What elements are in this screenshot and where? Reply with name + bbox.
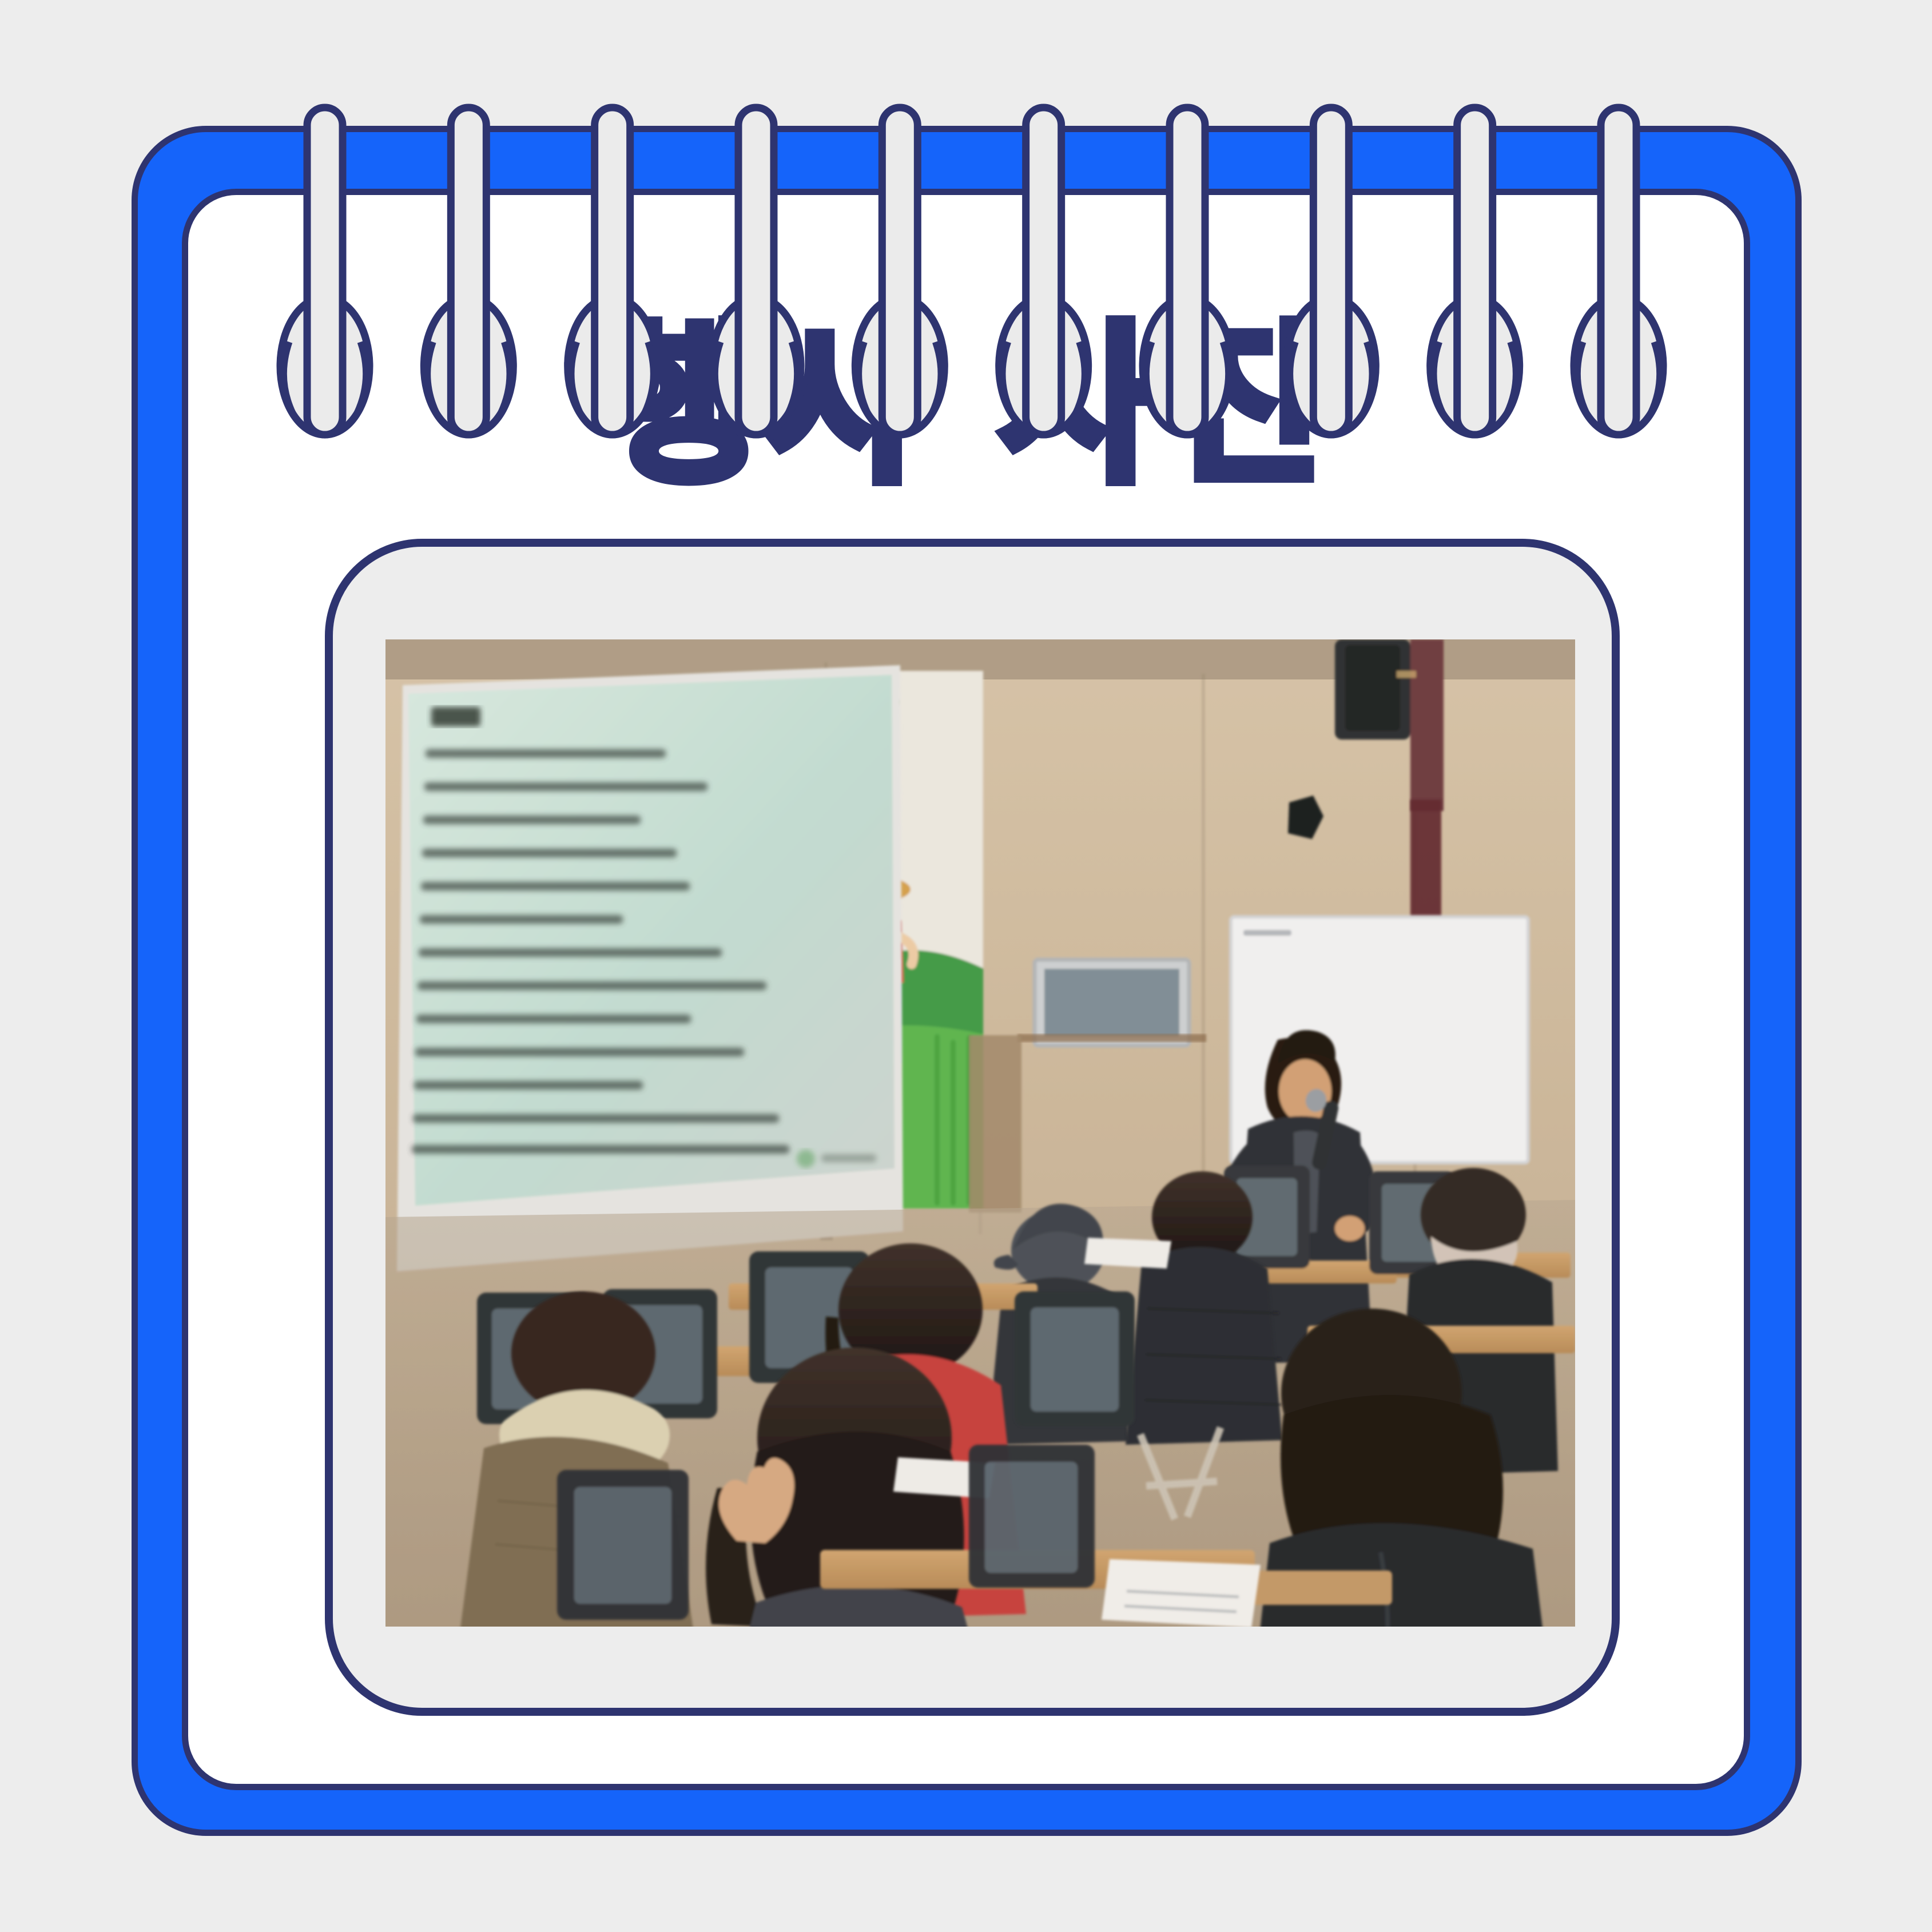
page-title: 행사 사진 [0, 320, 1932, 492]
event-photo-illustration [385, 639, 1575, 1627]
event-photo [385, 639, 1575, 1627]
photo-frame [325, 539, 1620, 1716]
notepad: 행사 사진 [0, 0, 1932, 1932]
